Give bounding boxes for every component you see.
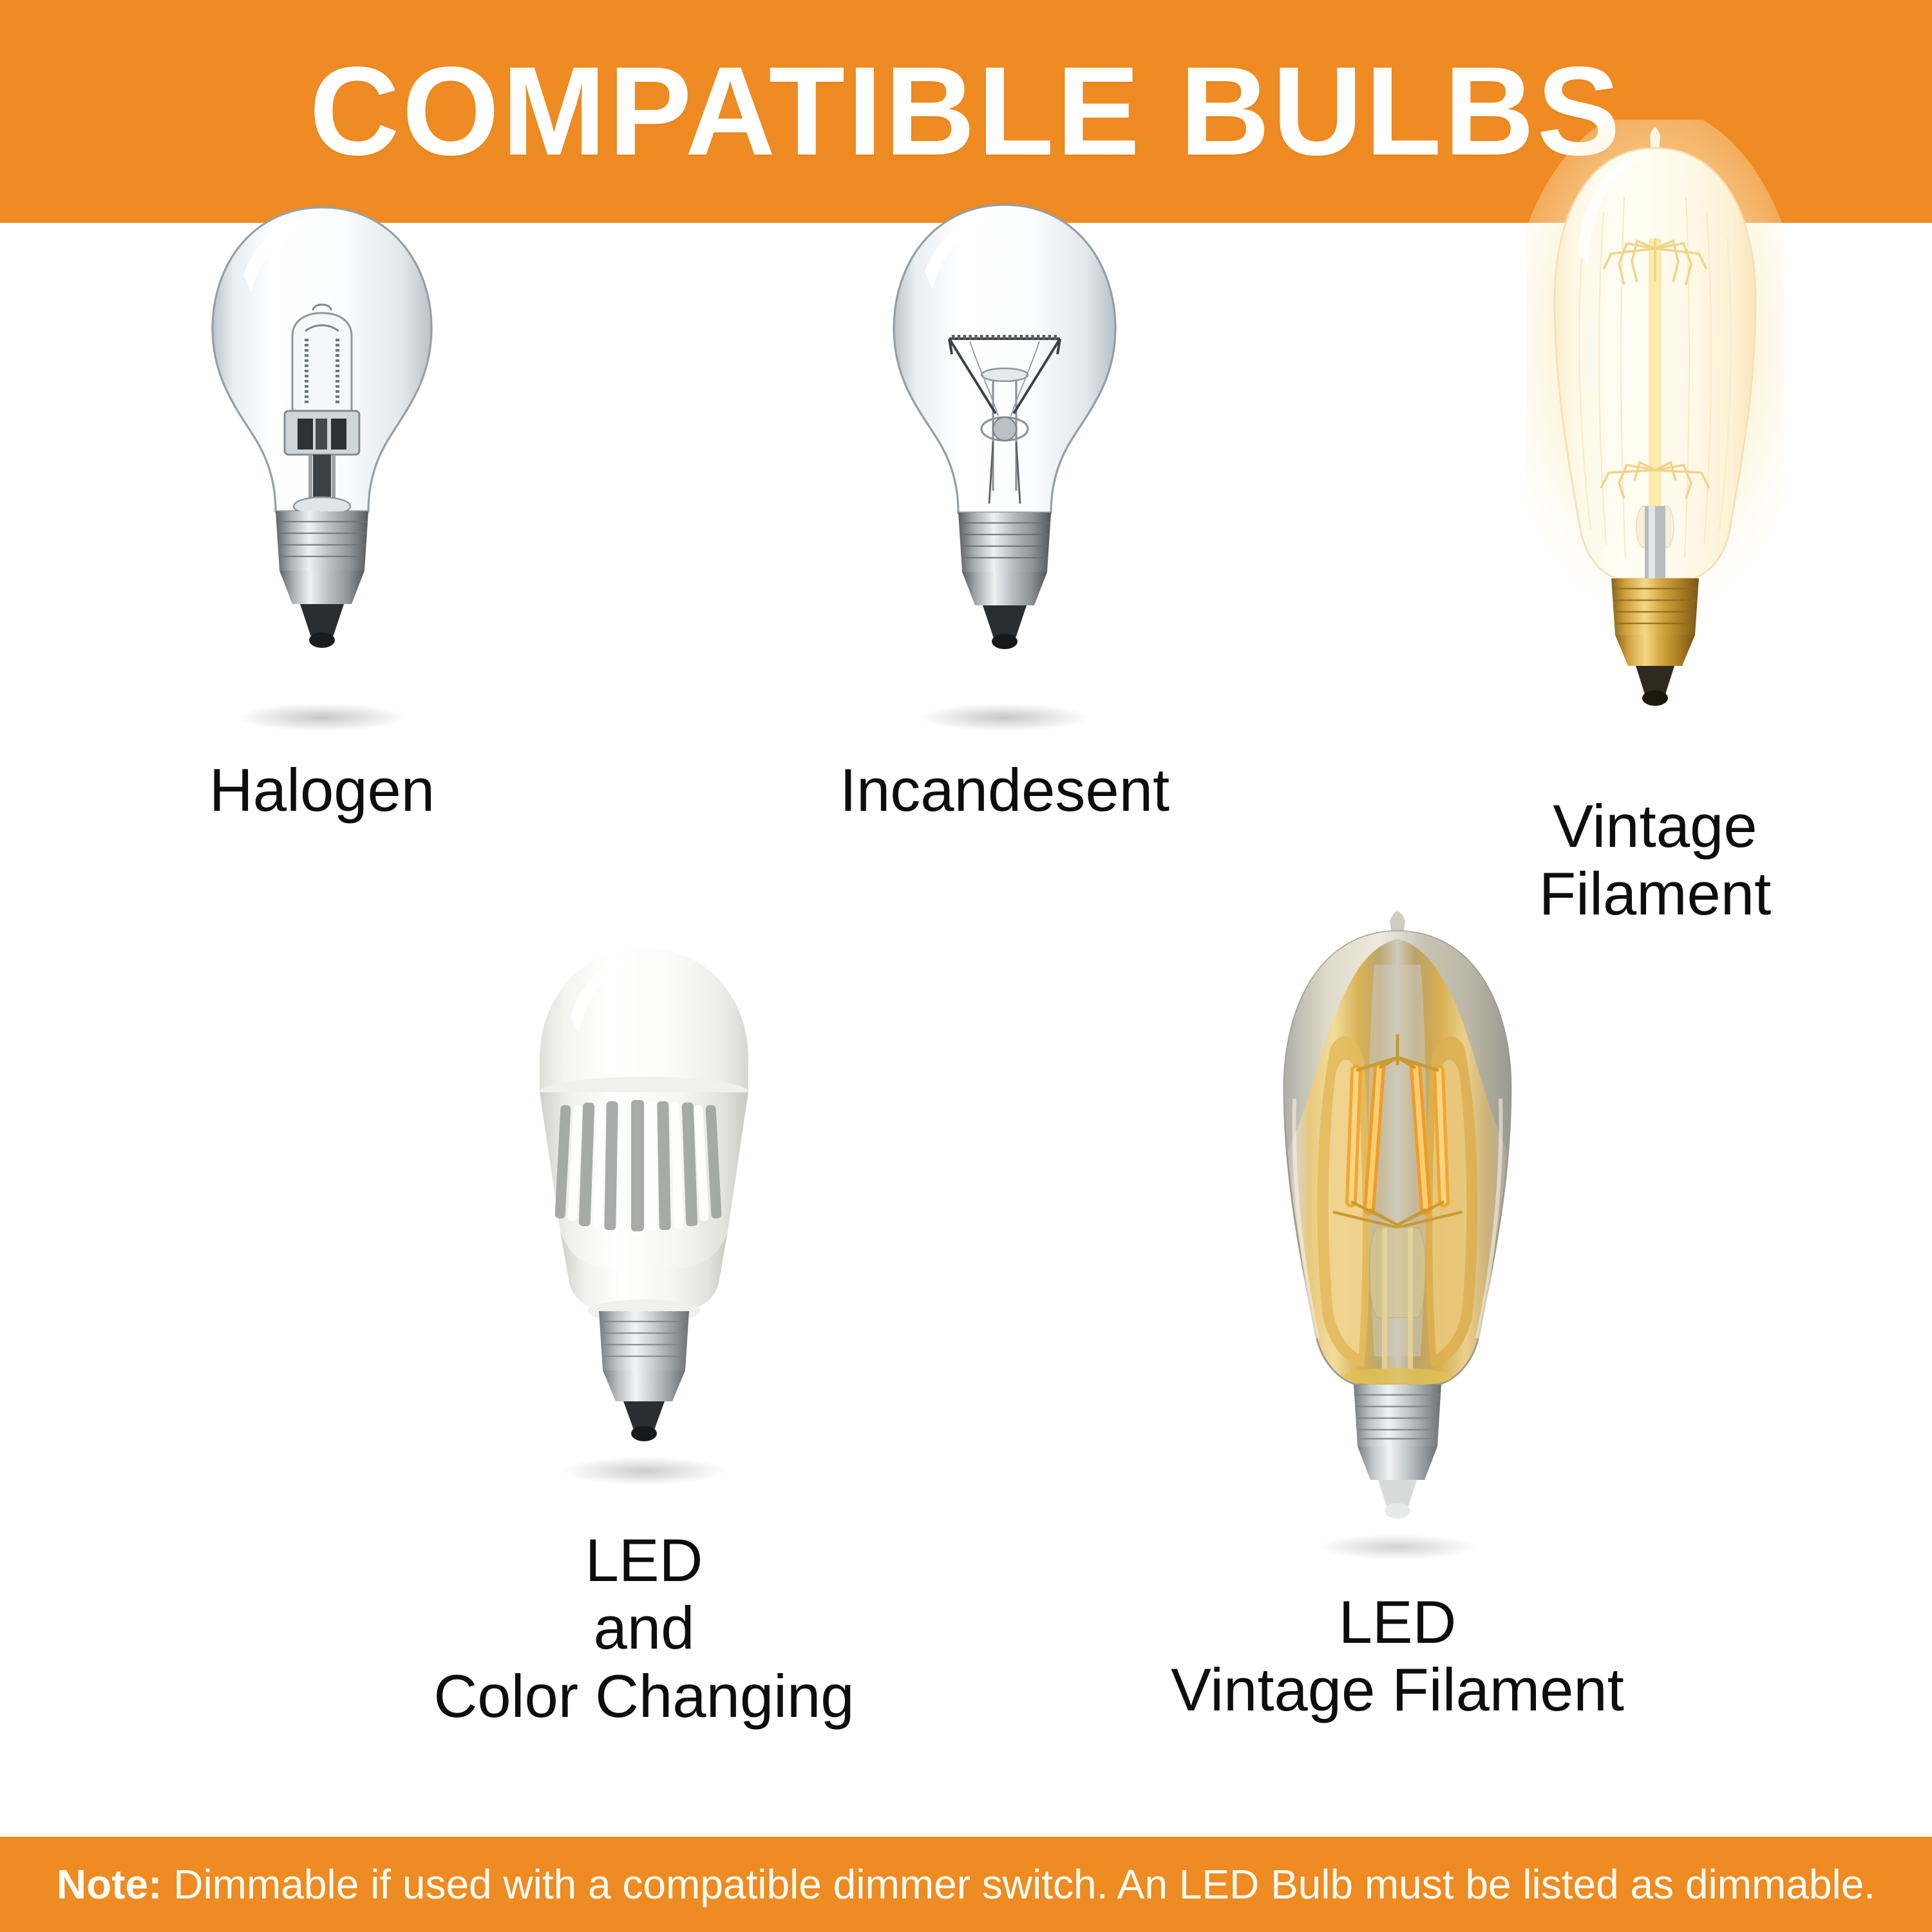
halogen-bulb-icon	[187, 184, 457, 738]
led-bulb-icon	[509, 925, 779, 1492]
bulb-label-led-color-changing: LED and Color Changing	[433, 1526, 854, 1730]
bulb-card-halogen[interactable]: Halogen	[77, 184, 567, 824]
page-title: COMPATIBLE BULBS	[309, 48, 1623, 175]
bulb-label-halogen: Halogen	[209, 756, 435, 824]
footer-note-prefix: Note:	[57, 1861, 162, 1908]
footer-note: Note: Dimmable if used with a compatible…	[57, 1864, 1875, 1905]
led-vintage-filament-bulb-icon	[1256, 905, 1539, 1562]
bulb-card-incandescent[interactable]: Incandesent	[760, 184, 1249, 824]
incandescent-bulb-icon	[869, 184, 1140, 738]
footer-note-bar: Note: Dimmable if used with a compatible…	[0, 1837, 1932, 1932]
vintage-filament-bulb-icon	[1526, 120, 1784, 770]
bulb-label-incandescent: Incandesent	[840, 756, 1170, 824]
footer-note-text: Dimmable if used with a compatible dimme…	[162, 1861, 1875, 1908]
bulb-card-led-color-changing[interactable]: LED and Color Changing	[399, 925, 889, 1730]
bulb-card-vintage-filament[interactable]: Vintage Filament	[1430, 120, 1880, 928]
bulb-grid: Halogen	[0, 223, 1932, 1837]
bulb-card-led-vintage-filament[interactable]: LED Vintage Filament	[1121, 905, 1674, 1724]
bulb-label-led-vintage-filament: LED Vintage Filament	[1171, 1588, 1624, 1724]
